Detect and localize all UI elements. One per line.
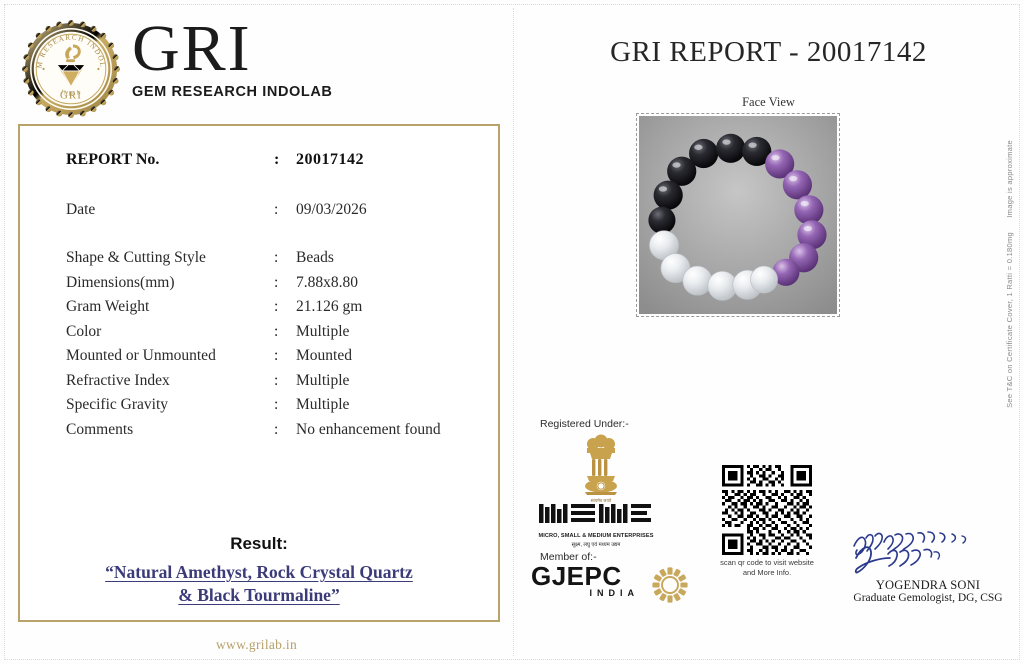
brand-name: GRI (132, 16, 333, 82)
row-colon: : (274, 393, 296, 418)
signatory-name: YOGENDRA SONI (843, 578, 1013, 593)
result-line-1: “Natural Amethyst, Rock Crystal Quartz (105, 562, 413, 582)
result-title: Result: (20, 534, 498, 554)
msme-subtitle-hindi: सूक्ष्म, लघु एवं मध्यम उद्यम (537, 540, 655, 548)
table-row-gram-weight: Gram Weight : 21.126 gm (66, 295, 486, 320)
table-row-refractive-index: Refractive Index : Multiple (66, 369, 486, 394)
certificate-page: GEM RESEARCH INDOLAB INDIA (0, 0, 1024, 664)
row-value: Multiple (296, 393, 486, 418)
row-colon: : (274, 148, 296, 173)
result-value: “Natural Amethyst, Rock Crystal Quartz &… (20, 561, 498, 607)
row-value: 20017142 (296, 148, 486, 173)
row-label: Color (66, 320, 274, 345)
row-colon: : (274, 369, 296, 394)
face-view-label: Face View (513, 95, 1024, 110)
result-line-2: & Black Tourmaline” (178, 585, 339, 605)
row-value: Beads (296, 246, 486, 271)
qr-code[interactable] (722, 465, 812, 555)
msme-wordmark-icon (537, 500, 655, 527)
row-colon: : (274, 198, 296, 223)
row-value: Mounted (296, 344, 486, 369)
row-colon: : (274, 271, 296, 296)
left-panel: GEM RESEARCH INDOLAB INDIA (0, 0, 513, 664)
row-label: Dimensions(mm) (66, 271, 274, 296)
table-row-specific-gravity: Specific Gravity : Multiple (66, 393, 486, 418)
msme-logo: MICRO, SMALL & MEDIUM ENTERPRISES सूक्ष्… (537, 500, 655, 548)
details-table: REPORT No. : 20017142 Date : 09/03/2026 … (66, 148, 486, 442)
row-value: No enhancement found (296, 418, 486, 443)
signatory-role: Graduate Gemologist, DG, CSG (838, 592, 1018, 604)
table-row-mounted: Mounted or Unmounted : Mounted (66, 344, 486, 369)
gemstone-photo-image (639, 116, 837, 314)
row-value: 7.88x8.80 (296, 271, 486, 296)
page-title: GRI REPORT - 20017142 (513, 36, 1024, 69)
details-card: REPORT No. : 20017142 Date : 09/03/2026 … (18, 124, 500, 622)
table-row-dimensions: Dimensions(mm) : 7.88x8.80 (66, 271, 486, 296)
brand-header: GEM RESEARCH INDOLAB INDIA (22, 20, 492, 112)
row-colon: : (274, 295, 296, 320)
row-label: Shape & Cutting Style (66, 246, 274, 271)
qr-caption: scan qr code to visit website and More I… (692, 558, 842, 578)
table-row-shape: Shape & Cutting Style : Beads (66, 246, 486, 271)
right-panel: GRI REPORT - 20017142 Face View (513, 0, 1024, 664)
bracelet-illustration (639, 116, 837, 314)
qr-caption-line-2: and More Info. (743, 568, 791, 577)
brand-wordmark: GRI GEM RESEARCH INDOLAB (132, 16, 333, 100)
table-row-color: Color : Multiple (66, 320, 486, 345)
gjepc-logo: GJEPC INDIA (531, 563, 696, 603)
brand-subtitle: GEM RESEARCH INDOLAB (132, 84, 333, 100)
row-label: Refractive Index (66, 369, 274, 394)
table-row-report-no: REPORT No. : 20017142 (66, 148, 486, 173)
footer-website[interactable]: www.grilab.in (0, 637, 513, 653)
row-colon: : (274, 344, 296, 369)
row-value: Multiple (296, 320, 486, 345)
row-label: REPORT No. (66, 148, 274, 173)
row-colon: : (274, 418, 296, 443)
msme-subtitle: MICRO, SMALL & MEDIUM ENTERPRISES (537, 533, 655, 539)
row-value: 21.126 gm (296, 295, 486, 320)
svg-text:GRI: GRI (60, 89, 82, 101)
result-section: Result: “Natural Amethyst, Rock Crystal … (20, 534, 498, 607)
image-approximate-note: Image is approximate (1005, 140, 1014, 218)
row-label: Mounted or Unmounted (66, 344, 274, 369)
qr-caption-line-1: scan qr code to visit website (720, 558, 814, 567)
row-value: 09/03/2026 (296, 198, 486, 223)
registered-under-label: Registered Under:- (540, 418, 629, 430)
ashoka-emblem-icon: सत्यमेव जयते (573, 432, 629, 506)
row-value: Multiple (296, 369, 486, 394)
table-row-comments: Comments : No enhancement found (66, 418, 486, 443)
row-label: Specific Gravity (66, 393, 274, 418)
row-label: Comments (66, 418, 274, 443)
row-label: Date (66, 198, 274, 223)
row-colon: : (274, 246, 296, 271)
gjepc-sunburst-icon (645, 565, 695, 605)
gemstone-photo (636, 113, 840, 317)
terms-note: See T&C on Certificate Cover, 1 Ratti = … (1005, 232, 1014, 408)
table-row-date: Date : 09/03/2026 (66, 198, 486, 223)
row-colon: : (274, 320, 296, 345)
signature-mark (848, 528, 1008, 574)
gri-seal-logo: GEM RESEARCH INDOLAB INDIA (22, 20, 120, 118)
row-label: Gram Weight (66, 295, 274, 320)
